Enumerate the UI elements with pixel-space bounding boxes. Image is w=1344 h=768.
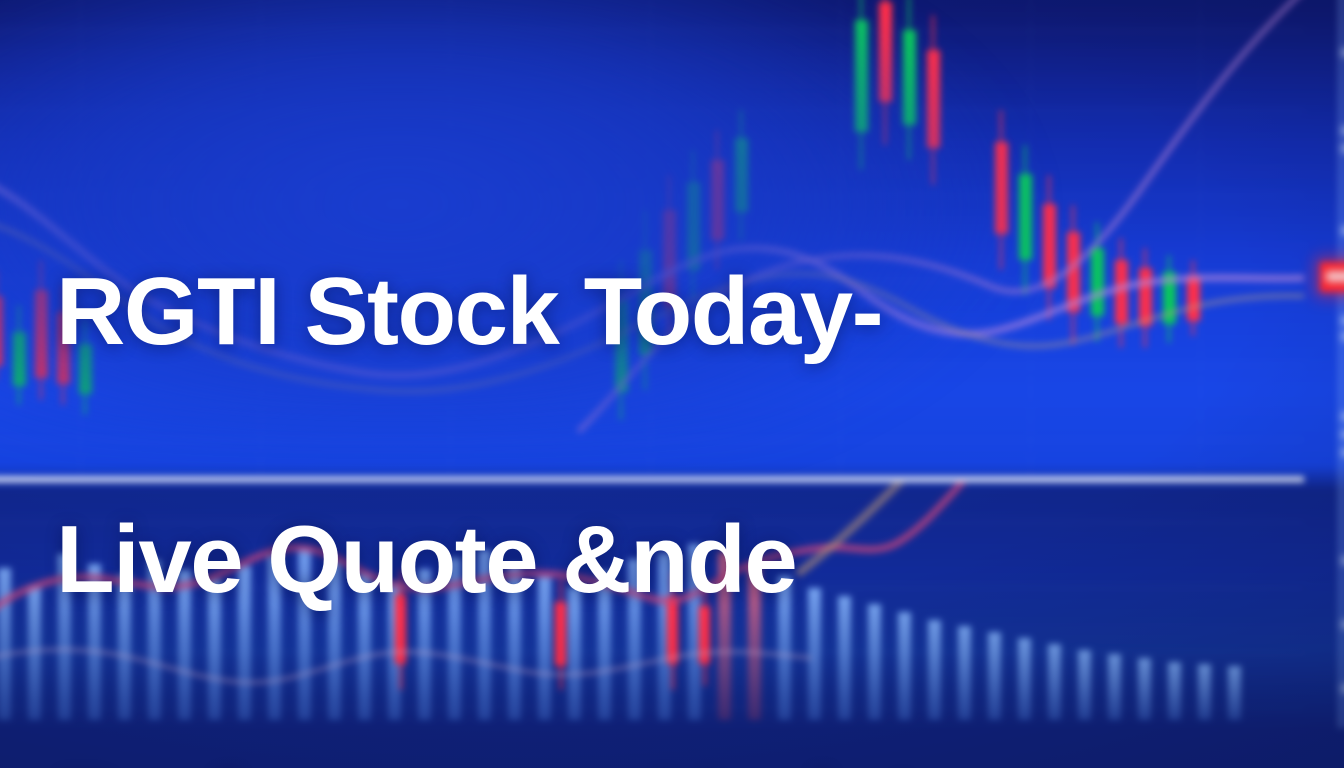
title-line-3: Performance Updates [56,746,1176,768]
last-price-tag [1320,262,1344,292]
title-line-2: Live Quote &nde [56,498,1176,622]
title-line-1: RGTI Stock Today- [56,250,1176,374]
page-title: RGTI Stock Today- Live Quote &nde Perfor… [56,126,1176,768]
banner-stage: RGTI Stock Today- Live Quote &nde Perfor… [0,0,1344,768]
price-axis-strip [1338,0,1344,728]
